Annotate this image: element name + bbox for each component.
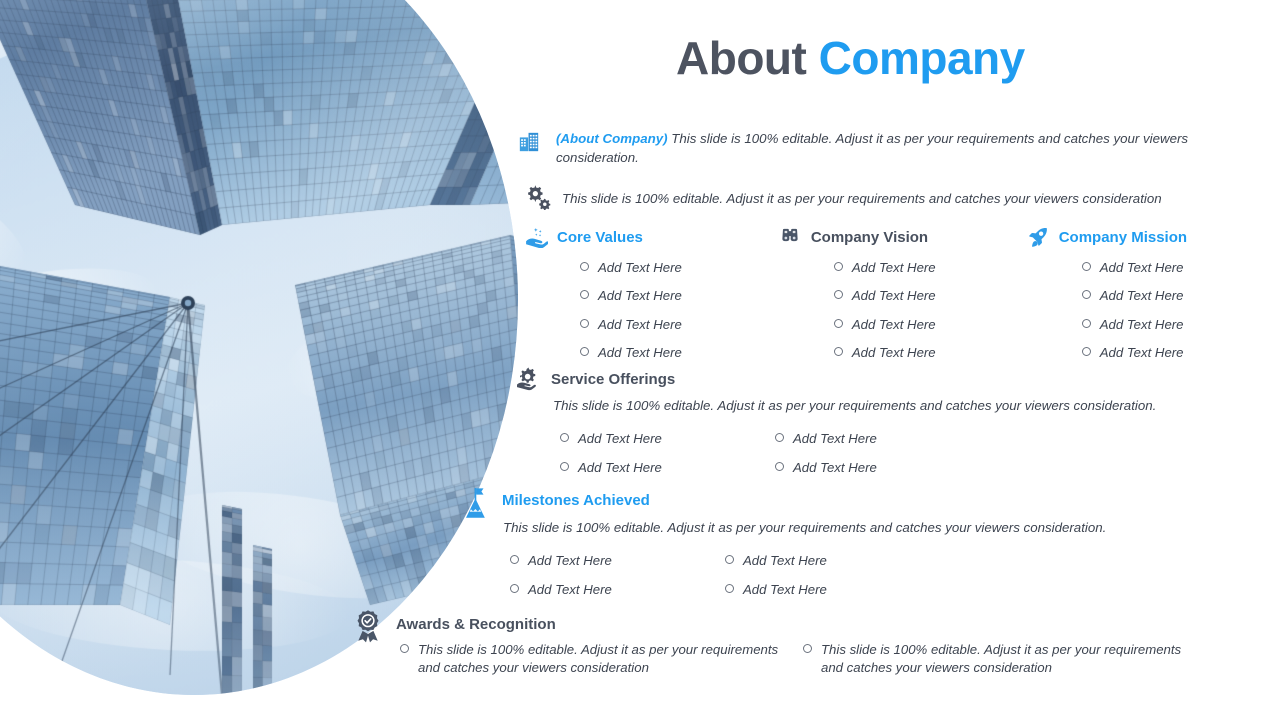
bullet-circle-icon bbox=[834, 347, 843, 356]
page-title-primary: About bbox=[676, 32, 819, 84]
bullet-circle-icon bbox=[1082, 319, 1091, 328]
gears-icon bbox=[526, 184, 552, 210]
list-item-label: Add Text Here bbox=[598, 287, 682, 305]
list-item-label: Add Text Here bbox=[743, 552, 827, 570]
list-item-label: Add Text Here bbox=[528, 581, 612, 599]
bullet-circle-icon bbox=[775, 433, 784, 442]
intro-paragraph-2: This slide is 100% editable. Adjust it a… bbox=[562, 190, 1222, 209]
list-item[interactable]: Add Text Here bbox=[775, 459, 990, 477]
milestones-description: This slide is 100% editable. Adjust it a… bbox=[503, 519, 1203, 538]
hand-sparkles-icon bbox=[524, 226, 548, 248]
list-item-label: Add Text Here bbox=[1100, 344, 1184, 362]
awards-list: This slide is 100% editable. Adjust it a… bbox=[400, 641, 1200, 677]
bullet-circle-icon bbox=[1082, 347, 1091, 356]
gear-in-hand-icon bbox=[516, 366, 542, 392]
list-item[interactable]: Add Text Here bbox=[580, 344, 778, 362]
page-title: About Company bbox=[676, 34, 1025, 82]
three-column-block: Core Values Add Text Here Add Text Here … bbox=[524, 226, 1224, 372]
bullet-circle-icon bbox=[580, 262, 589, 271]
milestones-list: Add Text Here Add Text Here Add Text Her… bbox=[510, 552, 940, 610]
list-item[interactable]: Add Text Here bbox=[834, 287, 1026, 305]
binoculars-icon bbox=[778, 226, 802, 248]
list-item-label: Add Text Here bbox=[528, 552, 612, 570]
list-item-label: Add Text Here bbox=[1100, 259, 1184, 277]
mountain-flag-icon bbox=[464, 487, 488, 519]
list-item-label: Add Text Here bbox=[598, 316, 682, 334]
rocket-icon bbox=[1026, 226, 1050, 248]
list-item-label: Add Text Here bbox=[598, 259, 682, 277]
list-item[interactable]: Add Text Here bbox=[1082, 344, 1224, 362]
column-company-mission-header: Company Mission bbox=[1026, 226, 1224, 248]
list-item[interactable]: Add Text Here bbox=[725, 552, 940, 570]
bullet-circle-icon bbox=[560, 462, 569, 471]
column-core-values-header: Core Values bbox=[524, 226, 778, 248]
bullet-circle-icon bbox=[725, 555, 734, 564]
column-core-values-heading: Core Values bbox=[557, 230, 643, 245]
list-item[interactable]: Add Text Here bbox=[725, 581, 940, 599]
list-item-label: Add Text Here bbox=[852, 316, 936, 334]
list-item-label: This slide is 100% editable. Adjust it a… bbox=[418, 641, 785, 677]
bullet-circle-icon bbox=[400, 644, 409, 653]
column-company-vision: Company Vision Add Text Here Add Text He… bbox=[778, 226, 1026, 372]
list-item-label: This slide is 100% editable. Adjust it a… bbox=[821, 641, 1188, 677]
milestones-list-right: Add Text Here Add Text Here bbox=[725, 552, 940, 610]
column-company-mission: Company Mission Add Text Here Add Text H… bbox=[1026, 226, 1224, 372]
list-item[interactable]: Add Text Here bbox=[834, 316, 1026, 334]
column-company-vision-list: Add Text Here Add Text Here Add Text Her… bbox=[834, 259, 1026, 362]
bullet-circle-icon bbox=[834, 262, 843, 271]
awards-list-left: This slide is 100% editable. Adjust it a… bbox=[400, 641, 785, 677]
bullet-circle-icon bbox=[580, 319, 589, 328]
service-offerings-description: This slide is 100% editable. Adjust it a… bbox=[553, 397, 1233, 416]
bullet-circle-icon bbox=[580, 290, 589, 299]
column-core-values-list: Add Text Here Add Text Here Add Text Her… bbox=[580, 259, 778, 362]
awards-heading: Awards & Recognition bbox=[396, 617, 556, 632]
list-item-label: Add Text Here bbox=[793, 430, 877, 448]
bullet-circle-icon bbox=[1082, 262, 1091, 271]
list-item-label: Add Text Here bbox=[578, 459, 662, 477]
list-item[interactable]: Add Text Here bbox=[560, 459, 775, 477]
list-item[interactable]: Add Text Here bbox=[580, 259, 778, 277]
list-item[interactable]: Add Text Here bbox=[834, 344, 1026, 362]
list-item-label: Add Text Here bbox=[578, 430, 662, 448]
awards-list-right: This slide is 100% editable. Adjust it a… bbox=[803, 641, 1188, 677]
bullet-circle-icon bbox=[510, 555, 519, 564]
list-item[interactable]: Add Text Here bbox=[1082, 287, 1224, 305]
service-offerings-list-left: Add Text Here Add Text Here bbox=[560, 430, 775, 488]
page-title-accent: Company bbox=[819, 32, 1025, 84]
column-company-vision-heading: Company Vision bbox=[811, 230, 928, 245]
list-item-label: Add Text Here bbox=[1100, 287, 1184, 305]
column-company-vision-header: Company Vision bbox=[778, 226, 1026, 248]
list-item[interactable]: Add Text Here bbox=[580, 287, 778, 305]
service-offerings-heading: Service Offerings bbox=[551, 372, 675, 387]
intro-lead-label: (About Company) bbox=[556, 131, 668, 146]
list-item-label: Add Text Here bbox=[1100, 316, 1184, 334]
list-item-label: Add Text Here bbox=[852, 287, 936, 305]
list-item[interactable]: This slide is 100% editable. Adjust it a… bbox=[803, 641, 1188, 677]
bullet-circle-icon bbox=[834, 290, 843, 299]
list-item[interactable]: This slide is 100% editable. Adjust it a… bbox=[400, 641, 785, 677]
list-item[interactable]: Add Text Here bbox=[1082, 316, 1224, 334]
milestones-list-left: Add Text Here Add Text Here bbox=[510, 552, 725, 610]
slide-content: About Company (About Company) This slide… bbox=[0, 0, 1280, 720]
column-core-values: Core Values Add Text Here Add Text Here … bbox=[524, 226, 778, 372]
column-company-mission-heading: Company Mission bbox=[1059, 230, 1187, 245]
bullet-circle-icon bbox=[803, 644, 812, 653]
list-item[interactable]: Add Text Here bbox=[775, 430, 990, 448]
bullet-circle-icon bbox=[560, 433, 569, 442]
bullet-circle-icon bbox=[1082, 290, 1091, 299]
list-item[interactable]: Add Text Here bbox=[510, 552, 725, 570]
bullet-circle-icon bbox=[510, 584, 519, 593]
bullet-circle-icon bbox=[834, 319, 843, 328]
list-item-label: Add Text Here bbox=[852, 259, 936, 277]
list-item[interactable]: Add Text Here bbox=[1082, 259, 1224, 277]
intro-paragraph-1: (About Company) This slide is 100% edita… bbox=[556, 130, 1216, 168]
list-item[interactable]: Add Text Here bbox=[834, 259, 1026, 277]
building-icon bbox=[518, 131, 540, 153]
award-ribbon-icon bbox=[354, 609, 382, 643]
bullet-circle-icon bbox=[775, 462, 784, 471]
list-item[interactable]: Add Text Here bbox=[560, 430, 775, 448]
service-offerings-list-right: Add Text Here Add Text Here bbox=[775, 430, 990, 488]
list-item-label: Add Text Here bbox=[852, 344, 936, 362]
bullet-circle-icon bbox=[580, 347, 589, 356]
list-item[interactable]: Add Text Here bbox=[580, 316, 778, 334]
list-item[interactable]: Add Text Here bbox=[510, 581, 725, 599]
list-item-label: Add Text Here bbox=[743, 581, 827, 599]
column-company-mission-list: Add Text Here Add Text Here Add Text Her… bbox=[1082, 259, 1224, 362]
list-item-label: Add Text Here bbox=[598, 344, 682, 362]
service-offerings-list: Add Text Here Add Text Here Add Text Her… bbox=[560, 430, 990, 488]
bullet-circle-icon bbox=[725, 584, 734, 593]
list-item-label: Add Text Here bbox=[793, 459, 877, 477]
milestones-heading: Milestones Achieved bbox=[502, 493, 650, 508]
